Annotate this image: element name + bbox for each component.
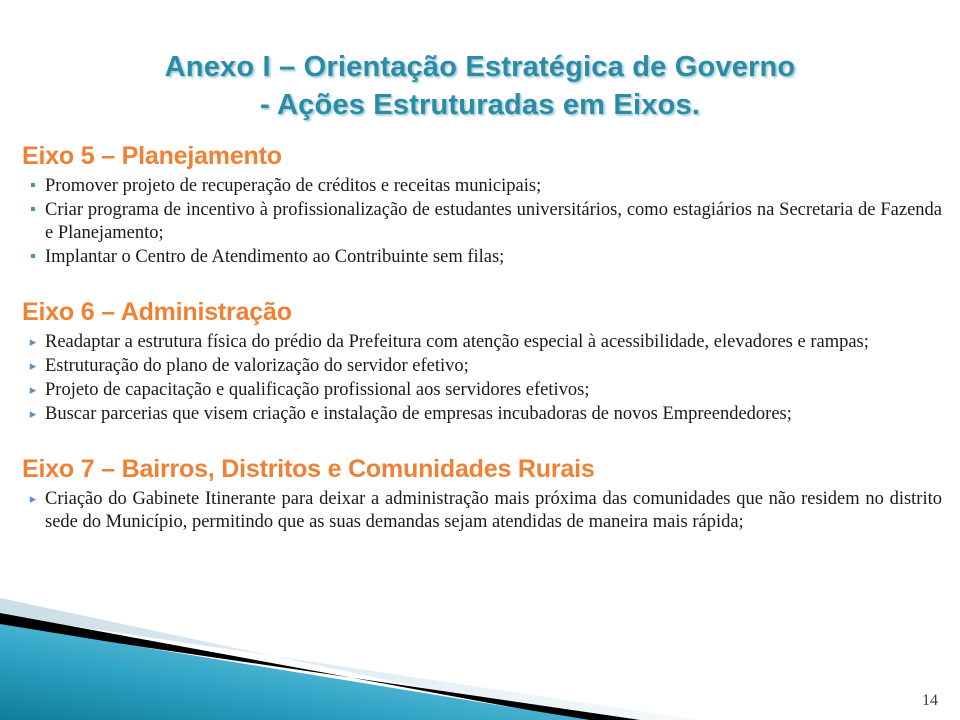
band-black-stripe <box>0 613 640 720</box>
slide-body: Eixo 5 – Planejamento Promover projeto d… <box>0 140 960 535</box>
list-item: ▸ Readaptar a estrutura física do prédio… <box>45 331 942 354</box>
section-eixo-5: Eixo 5 – Planejamento Promover projeto d… <box>0 140 960 269</box>
square-bullet-icon <box>25 175 41 198</box>
list-item-text: Implantar o Centro de Atendimento ao Con… <box>45 247 504 267</box>
list-item: ▸ Criação do Gabinete Itinerante para de… <box>45 488 942 534</box>
bullet-list-eixo-7: ▸ Criação do Gabinete Itinerante para de… <box>0 488 960 534</box>
arrow-bullet-icon: ▸ <box>25 403 41 426</box>
arrow-bullet-icon: ▸ <box>25 379 41 402</box>
band-pale-stripe <box>0 598 700 720</box>
band-teal-triangle <box>0 624 590 720</box>
arrow-bullet-icon: ▸ <box>25 355 41 378</box>
section-heading-eixo-7: Eixo 7 – Bairros, Distritos e Comunidade… <box>22 453 960 485</box>
page-number: 14 <box>922 692 938 710</box>
arrow-bullet-icon: ▸ <box>25 488 41 511</box>
section-spacer <box>0 270 960 296</box>
list-item: Criar programa de incentivo à profission… <box>45 199 942 245</box>
list-item: Implantar o Centro de Atendimento ao Con… <box>45 246 942 269</box>
square-bullet-icon <box>25 246 41 269</box>
section-heading-eixo-5: Eixo 5 – Planejamento <box>22 140 960 172</box>
list-item: Promover projeto de recuperação de crédi… <box>45 175 942 198</box>
section-eixo-7: Eixo 7 – Bairros, Distritos e Comunidade… <box>0 453 960 534</box>
list-item: ▸ Buscar parcerias que visem criação e i… <box>45 403 942 426</box>
list-item: ▸ Projeto de capacitação e qualificação … <box>45 379 942 402</box>
list-item-text: Estruturação do plano de valorização do … <box>45 356 469 376</box>
page-title: Anexo I – Orientação Estratégica de Gove… <box>0 48 960 124</box>
list-item-text: Criação do Gabinete Itinerante para deix… <box>45 489 942 532</box>
list-item-text: Buscar parcerias que visem criação e ins… <box>45 404 792 424</box>
arrow-bullet-icon: ▸ <box>25 331 41 354</box>
list-item-text: Readaptar a estrutura física do prédio d… <box>45 332 869 352</box>
section-eixo-6: Eixo 6 – Administração ▸ Readaptar a est… <box>0 296 960 426</box>
list-item-text: Promover projeto de recuperação de crédi… <box>45 176 541 196</box>
bullet-list-eixo-6: ▸ Readaptar a estrutura física do prédio… <box>0 331 960 426</box>
list-item: ▸ Estruturação do plano de valorização d… <box>45 355 942 378</box>
list-item-text: Projeto de capacitação e qualificação pr… <box>45 380 590 400</box>
square-bullet-icon <box>25 199 41 222</box>
section-spacer <box>0 427 960 453</box>
bullet-list-eixo-5: Promover projeto de recuperação de crédi… <box>0 175 960 269</box>
slide-canvas: Anexo I – Orientação Estratégica de Gove… <box>0 0 960 720</box>
diagonal-corner-band-graphic <box>0 580 960 720</box>
section-heading-eixo-6: Eixo 6 – Administração <box>22 296 960 328</box>
list-item-text: Criar programa de incentivo à profission… <box>45 200 942 243</box>
